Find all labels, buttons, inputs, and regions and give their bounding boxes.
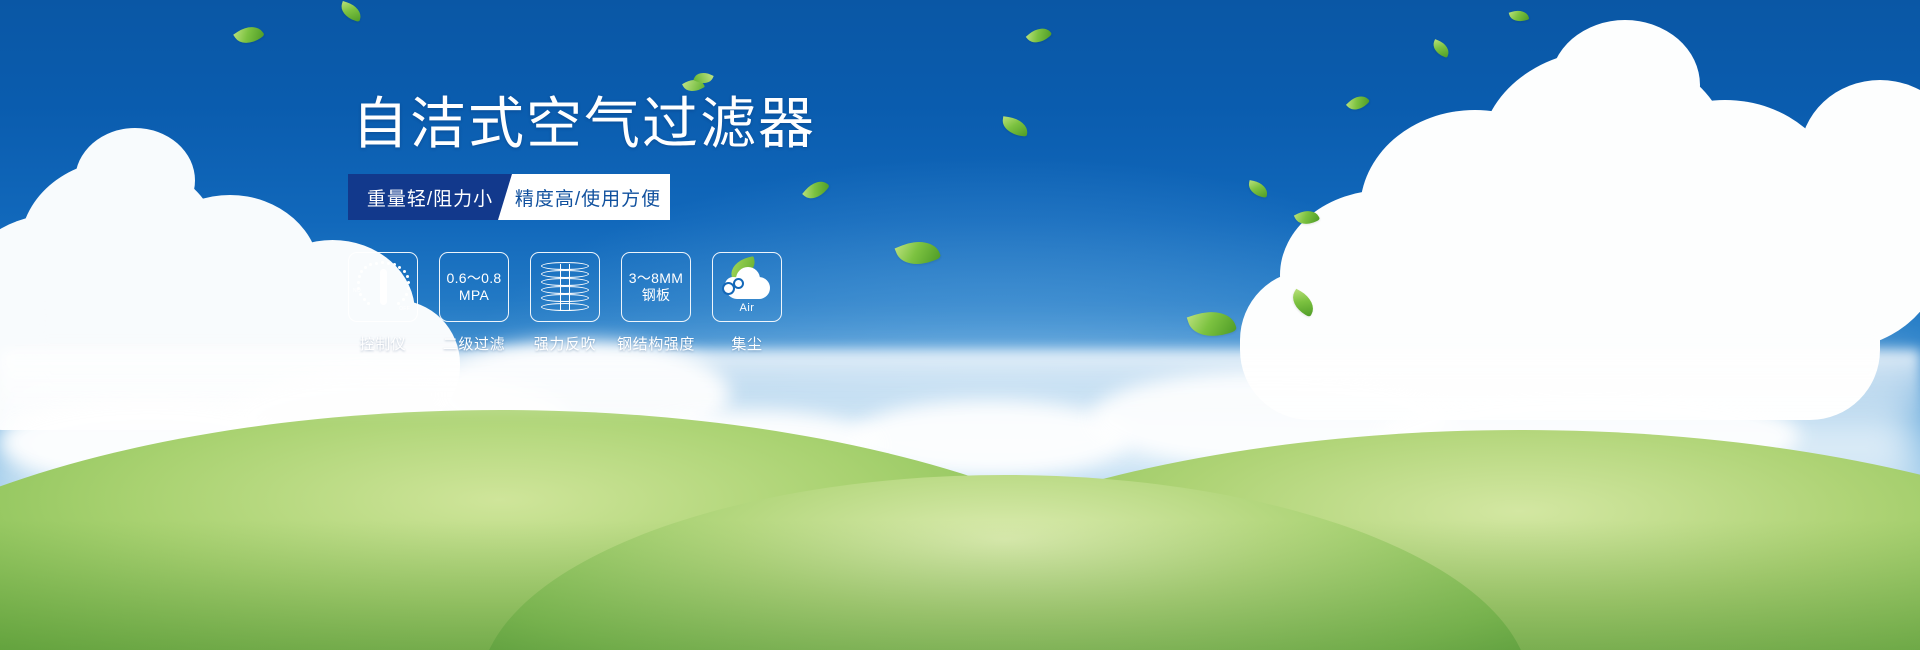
feature-item[interactable]: 3～8MM 钢板 钢结构强度: [621, 252, 691, 354]
dial-label-no: NO: [353, 288, 361, 294]
feature-caption: 强力反吹: [534, 333, 596, 354]
feature-box-text-line1: 3～8MM: [629, 270, 683, 287]
feature-caption: 二级过滤: [443, 333, 505, 354]
product-hero-banner: 自洁式空气过滤器 重量轻/阻力小 精度高/使用方便: [0, 0, 1920, 650]
feature-item[interactable]: 强力反吹: [530, 252, 600, 354]
tab-feature-2[interactable]: 精度高/使用方便: [498, 174, 670, 220]
title-leaf-icon: [684, 72, 710, 92]
feature-item[interactable]: NO OFF 控制仪: [348, 252, 418, 354]
banner-content: 自洁式空气过滤器 重量轻/阻力小 精度高/使用方便: [348, 96, 1108, 354]
feature-box-text-line2: 钢板: [642, 287, 671, 304]
feature-box: 3～8MM 钢板: [621, 252, 691, 322]
feature-icon-row: NO OFF 控制仪 0.6～0.8 MPA 二级过滤: [348, 252, 1108, 354]
tab-feature-1[interactable]: 重量轻/阻力小: [348, 174, 512, 220]
page-title: 自洁式空气过滤器: [348, 96, 1108, 152]
air-label: Air: [720, 302, 774, 314]
feature-caption: 钢结构强度: [617, 333, 695, 354]
feature-box: [530, 252, 600, 322]
subtitle-tabs: 重量轻/阻力小 精度高/使用方便: [348, 174, 670, 220]
feature-caption: 集尘: [731, 333, 762, 354]
feature-box-text-line2: MPA: [459, 287, 489, 304]
feature-item[interactable]: Air 集尘: [712, 252, 782, 354]
grass-mist: [0, 350, 1920, 420]
grass-field: [0, 350, 1920, 650]
filter-stack-icon: [541, 262, 589, 312]
cloud-air-icon: Air: [720, 263, 774, 311]
feature-box: 0.6～0.8 MPA: [439, 252, 509, 322]
feature-caption: 控制仪: [360, 333, 407, 354]
feature-item[interactable]: 0.6～0.8 MPA 二级过滤: [439, 252, 509, 354]
feature-box: NO OFF: [348, 252, 418, 322]
grass-shadow: [0, 520, 1920, 650]
dial-label-off: OFF: [399, 306, 410, 312]
feature-box-text-line1: 0.6～0.8: [446, 270, 501, 287]
feature-box: Air: [712, 252, 782, 322]
dial-gauge-icon: NO OFF: [356, 260, 410, 314]
